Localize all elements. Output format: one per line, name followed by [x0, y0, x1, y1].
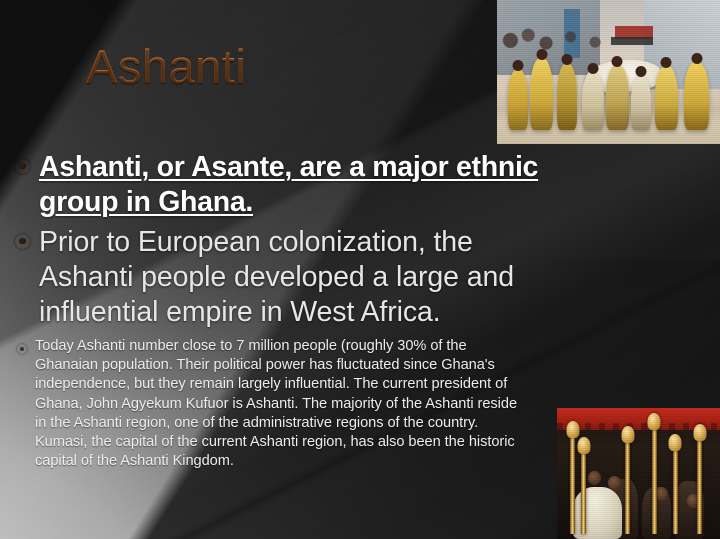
photo-background-crowd — [497, 14, 720, 57]
photo-golden-staff — [673, 447, 678, 533]
photo-figure-head — [612, 56, 623, 67]
photo-golden-staff — [697, 437, 702, 534]
photo-figure — [508, 69, 528, 129]
photo-golden-staff — [581, 450, 586, 534]
bullet-spacer-2 — [0, 330, 540, 337]
photo-figure — [631, 75, 651, 130]
photo-golden-staff — [570, 434, 575, 534]
bullet-marker-icon — [15, 159, 30, 174]
bullet-text-3: Today Ashanti number close to 7 million … — [35, 337, 540, 471]
photo-figure-head — [536, 49, 547, 60]
bullet-item-2: Prior to European colonization, the Asha… — [0, 225, 540, 330]
ashanti-regalia-photo — [557, 408, 720, 539]
photo-figure — [684, 62, 709, 130]
bullet-text-2: Prior to European colonization, the Asha… — [39, 225, 540, 330]
bullet-item-3: Today Ashanti number close to 7 million … — [0, 337, 540, 471]
photo-figure — [655, 66, 677, 129]
photo-figure — [606, 65, 628, 130]
photo-figure — [582, 72, 604, 130]
photo-figure-head — [562, 54, 573, 65]
bullet-marker-icon — [17, 344, 27, 354]
slide-title: Ashanti — [86, 42, 246, 91]
photo-figure-head — [635, 66, 646, 77]
photo-golden-staff — [625, 439, 630, 533]
photo-face — [608, 476, 621, 490]
photo-figure-head — [661, 57, 672, 68]
photo-figure — [530, 58, 552, 130]
slide-canvas: Ashanti Ashanti, or Asante, are a major … — [0, 0, 720, 539]
photo-face — [655, 487, 668, 501]
photo-figure-head — [513, 60, 524, 71]
slide-body: Ashanti, or Asante, are a major ethnic g… — [0, 150, 540, 471]
photo-figure-head — [587, 63, 598, 74]
bullet-item-1: Ashanti, or Asante, are a major ethnic g… — [0, 150, 540, 220]
photo-golden-staff — [652, 426, 657, 533]
photo-figure-head — [691, 53, 702, 64]
bullet-text-1: Ashanti, or Asante, are a major ethnic g… — [39, 150, 540, 220]
ashanti-procession-photo — [497, 0, 720, 144]
bullet-marker-icon — [15, 234, 30, 249]
photo-face — [588, 471, 601, 485]
photo-figure — [557, 63, 577, 129]
